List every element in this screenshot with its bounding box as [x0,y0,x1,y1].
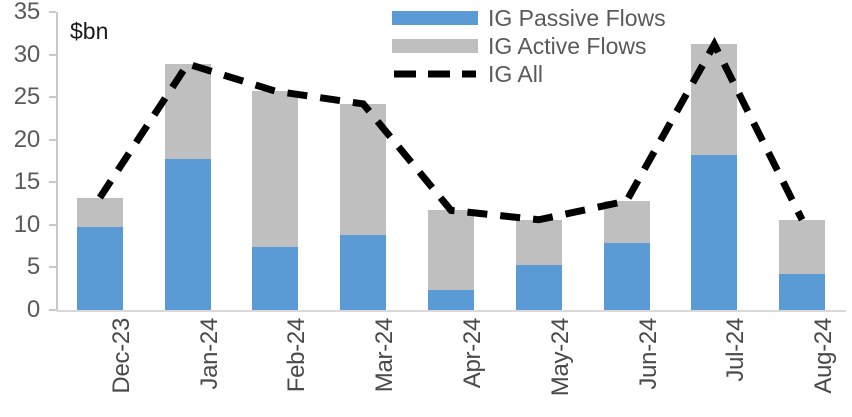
bar-segment-passive [428,290,474,310]
y-tick-label: 15 [14,170,40,194]
y-tick-label: 30 [14,43,40,67]
bar-segment-active [428,210,474,289]
x-tick-label: Mar-24 [373,318,397,392]
bar-segment-passive [604,243,650,310]
y-tick-mark [49,266,56,268]
x-tick-label: Jun-24 [637,318,661,390]
y-tick-label: 25 [14,85,40,109]
legend-swatch-icon-active [392,39,478,53]
y-tick-mark [49,139,56,141]
legend-dashed-line-icon [392,67,478,81]
bar-segment-active [252,91,298,247]
bar-group [77,12,123,310]
bar-segment-active [165,64,211,159]
y-tick-mark [49,96,56,98]
bar-segment-active [779,220,825,274]
y-tick-label: 20 [14,128,40,152]
y-tick-mark [49,54,56,56]
legend-label-active: IG Active Flows [488,35,646,58]
y-tick-label: 35 [14,0,40,24]
x-tick-label: Jul-24 [724,318,748,382]
bar-segment-passive [252,247,298,310]
y-tick-mark [49,11,56,13]
chart-legend: IG Passive Flows IG Active Flows IG All [392,4,692,88]
flows-bar-chart: 05101520253035 $bn Dec-23Jan-24Feb-24Mar… [0,0,852,417]
bar-segment-passive [340,235,386,310]
legend-item-passive: IG Passive Flows [392,4,692,32]
bar-group [165,12,211,310]
bar-group [252,12,298,310]
bar-segment-passive [165,159,211,310]
bar-segment-passive [77,227,123,310]
bar-segment-active [340,104,386,235]
bar-group [340,12,386,310]
bar-segment-active [77,198,123,227]
bar-segment-passive [516,265,562,310]
x-tick-label: Apr-24 [461,318,485,388]
x-tick-label: Dec-23 [110,318,134,394]
legend-item-active: IG Active Flows [392,32,692,60]
x-tick-label: Jan-24 [198,318,222,390]
x-tick-label: Feb-24 [285,318,309,392]
y-tick-label: 5 [27,255,40,279]
legend-swatch-icon-passive [392,11,478,25]
y-tick-mark [49,309,56,311]
legend-item-all: IG All [392,60,692,88]
bar-segment-active [604,201,650,243]
y-tick-mark [49,224,56,226]
bar-group [691,12,737,310]
y-tick-mark [49,181,56,183]
legend-label-all: IG All [488,63,543,86]
y-axis: 05101520253035 [0,0,46,417]
bar-segment-active [691,44,737,155]
bar-group [779,12,825,310]
bar-segment-passive [691,155,737,310]
bar-segment-passive [779,274,825,310]
x-tick-label: Aug-24 [812,318,836,394]
x-axis: Dec-23Jan-24Feb-24Mar-24Apr-24May-24Jun-… [56,310,846,417]
legend-label-passive: IG Passive Flows [488,7,666,30]
bar-segment-active [516,220,562,265]
y-tick-label: 10 [14,213,40,237]
y-tick-label: 0 [27,298,40,322]
x-tick-label: May-24 [549,318,573,396]
